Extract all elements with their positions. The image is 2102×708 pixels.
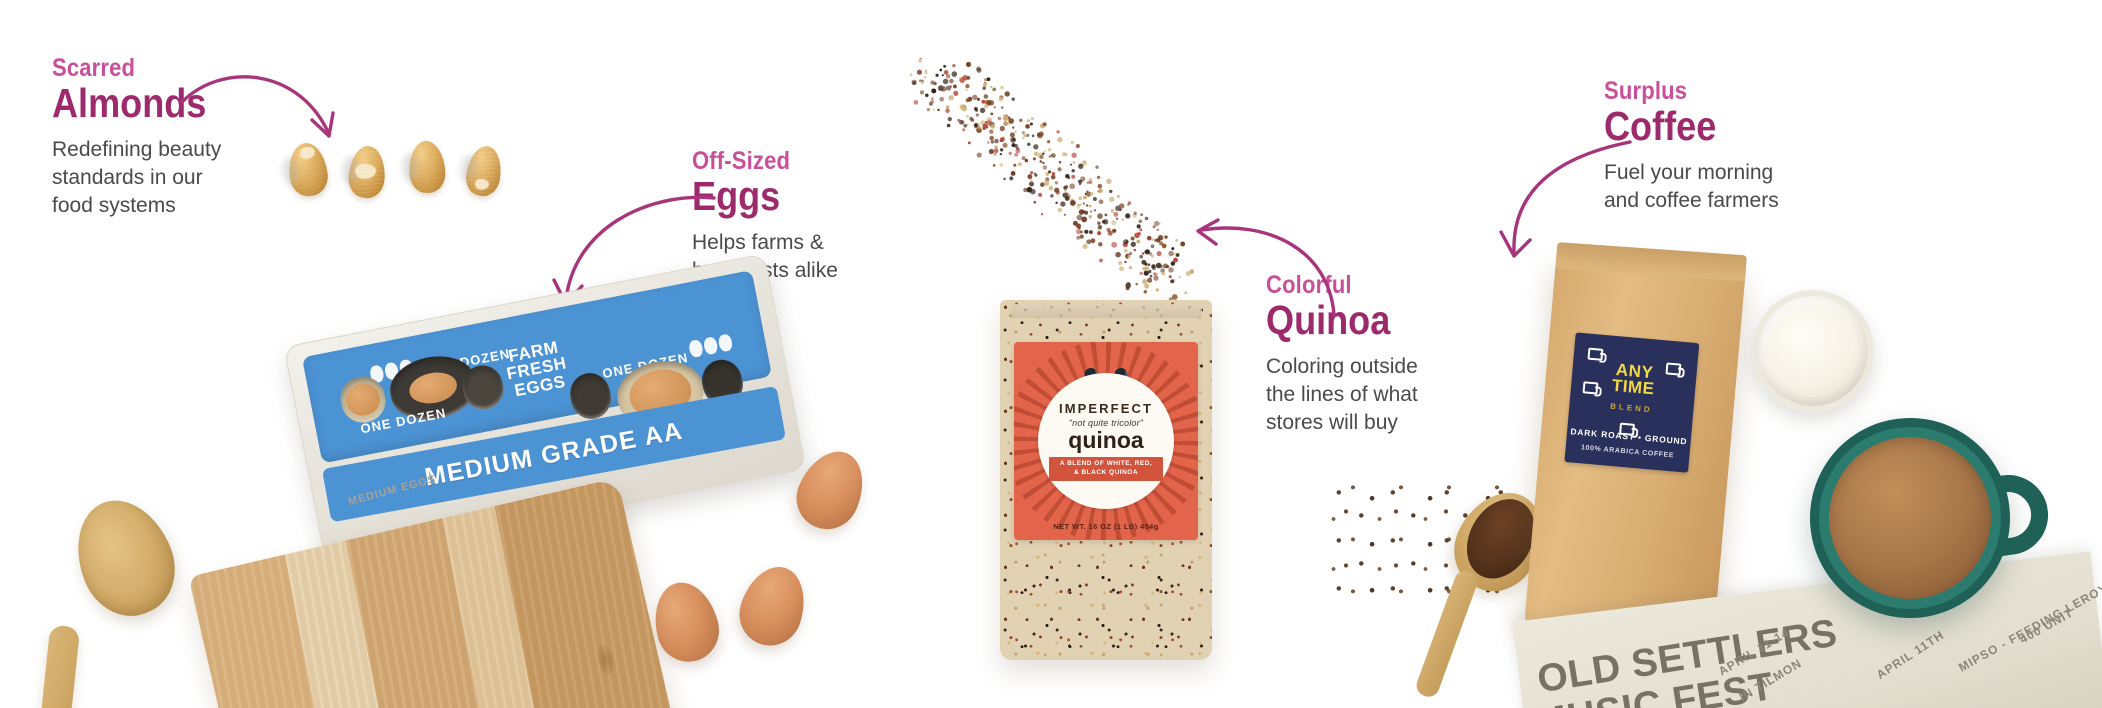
loose-egg-2 xyxy=(646,576,726,669)
quinoa-net-weight: NET WT. 16 OZ (1 LB) 454g xyxy=(1014,522,1198,531)
curved-arrow-down-right-icon xyxy=(178,58,358,178)
coffee-origin-label: 100% ARABICA COFFEE xyxy=(1565,443,1689,461)
carton-brand: FARM FRESH EGGS xyxy=(502,338,571,401)
spoon-bowl xyxy=(60,486,190,630)
coffee-label: ANY TIME BLEND DARK ROAST • GROUND 100% … xyxy=(1564,332,1699,472)
spoon-handle xyxy=(37,625,80,708)
coffee-blend-label: BLEND xyxy=(1569,398,1693,418)
quinoa-label: IMPERFECT "not quite tricolor" quinoa A … xyxy=(1014,342,1198,540)
almond-3 xyxy=(408,140,447,194)
callout-coffee-eyebrow: Surplus xyxy=(1604,78,1758,104)
quinoa-blend-banner: A BLEND OF WHITE, RED, & BLACK QUINOA xyxy=(1049,457,1163,481)
board-knot xyxy=(595,644,617,677)
quinoa-bag: IMPERFECT "not quite tricolor" quinoa A … xyxy=(1000,300,1212,660)
cream-jar-contents xyxy=(1767,305,1859,397)
quinoa-label-circle: IMPERFECT "not quite tricolor" quinoa A … xyxy=(1038,373,1174,509)
coffee-bag: ANY TIME BLEND DARK ROAST • GROUND 100% … xyxy=(1524,254,1746,639)
coffee-mug xyxy=(1810,418,2010,618)
cream-jar xyxy=(1752,290,1874,412)
quinoa-blend-line-2: & BLACK QUINOA xyxy=(1051,469,1161,478)
quinoa-blend-line-1: A BLEND OF WHITE, RED, xyxy=(1051,460,1161,469)
quinoa-pour-stream xyxy=(910,58,1240,318)
product-showcase-scene: Scarred Almonds Redefining beauty standa… xyxy=(0,0,2102,708)
carton-egg-glyphs-3 xyxy=(688,333,733,358)
coffee-bag-top-fold xyxy=(1556,242,1747,281)
coffee-spoon-handle xyxy=(1414,568,1481,700)
callout-eggs-eyebrow: Off-Sized xyxy=(692,148,820,174)
quinoa-product-name: quinoa xyxy=(1068,429,1143,452)
callout-quinoa-body: Coloring outside the lines of what store… xyxy=(1266,353,1418,437)
curved-arrow-up-left-icon xyxy=(1192,218,1342,318)
quinoa-bag-seal xyxy=(1010,304,1202,318)
quinoa-brand: IMPERFECT xyxy=(1059,401,1153,416)
loose-egg-3 xyxy=(731,558,815,653)
coffee-mug-liquid xyxy=(1829,437,1991,599)
almond-4 xyxy=(463,144,504,199)
newspaper-sub-3: APRIL 11TH xyxy=(1874,628,1947,682)
